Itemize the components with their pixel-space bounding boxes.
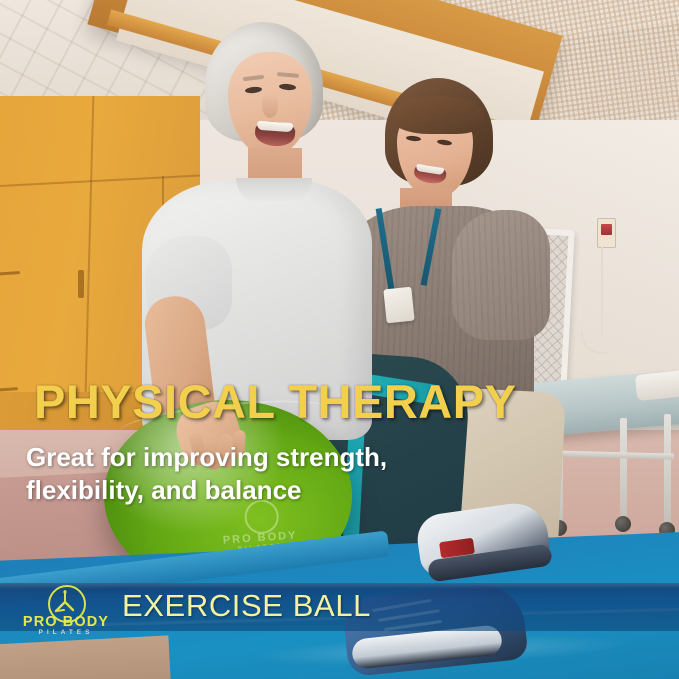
- brand-tagline: PILATES: [18, 629, 114, 636]
- wood-floor-patch: [0, 635, 171, 679]
- cabinet-seam: [0, 175, 200, 188]
- pilates-figure-icon: [52, 589, 78, 615]
- page-title: PHYSICAL THERAPY: [34, 378, 516, 425]
- table-caster: [615, 516, 631, 532]
- client-nose: [262, 94, 278, 118]
- cabinet-handle: [0, 271, 20, 276]
- product-name: EXERCISE BALL: [122, 588, 371, 624]
- id-badge: [383, 287, 414, 324]
- brand-name: PRO BODY: [18, 614, 114, 630]
- therapist-shoulder: [452, 210, 550, 340]
- product-poster: PRO BODY PILATES PHYSICAL THERAPY Great …: [0, 0, 679, 679]
- therapist-fringe: [392, 96, 484, 134]
- cabinet-handle: [78, 270, 84, 298]
- call-cord: [601, 246, 603, 336]
- therapy-table-pillow: [635, 369, 679, 401]
- poster-subtitle: Great for improving strength, flexibilit…: [26, 441, 387, 506]
- table-leg: [620, 418, 627, 520]
- table-leg: [664, 414, 671, 524]
- call-button-box: [597, 218, 616, 248]
- brand-logo: PRO BODY PILATES: [18, 584, 114, 630]
- scene-photo: PRO BODY PILATES: [0, 0, 679, 679]
